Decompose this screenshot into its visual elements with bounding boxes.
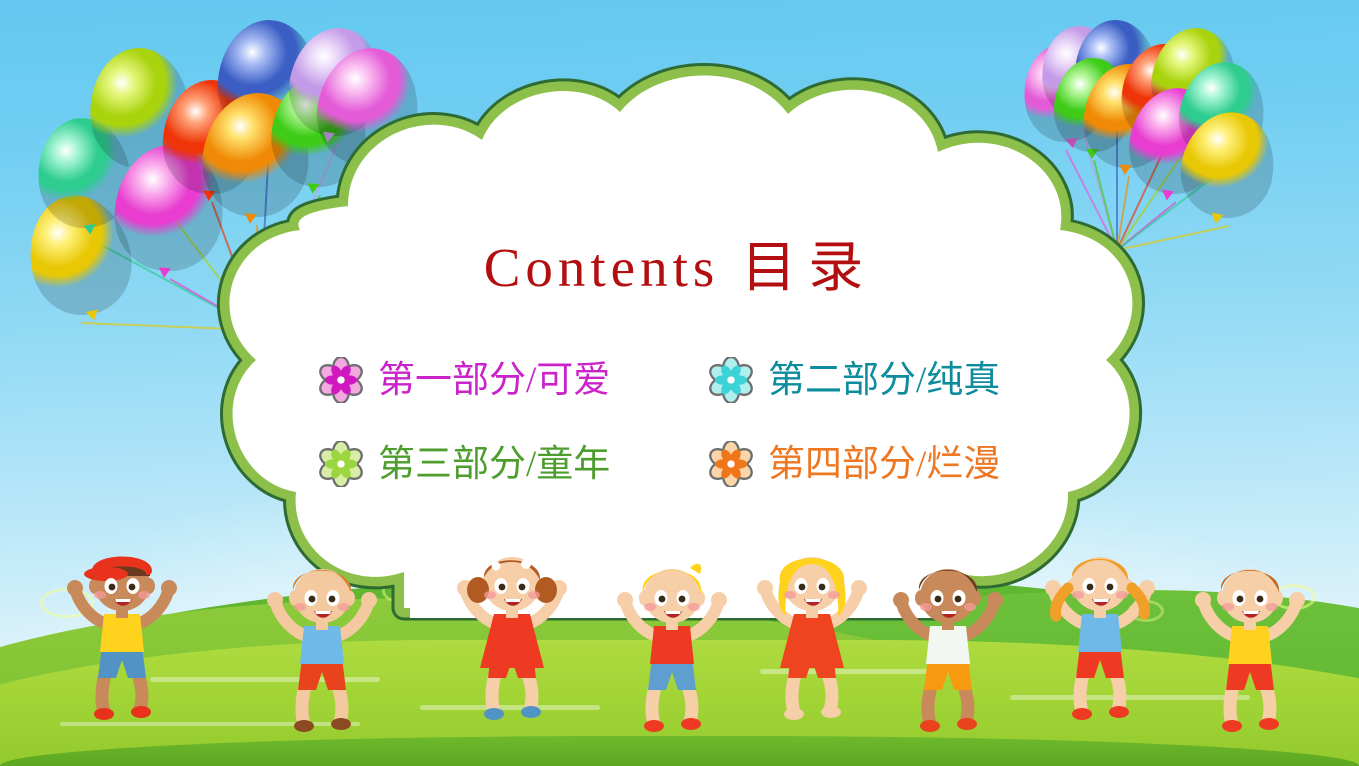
kid-girl-pigtails-dress xyxy=(452,542,572,732)
flower-icon xyxy=(708,441,754,487)
flower-icon xyxy=(318,357,364,403)
kid-boy-white-tank xyxy=(888,554,1008,744)
page-title-cn: 目录 xyxy=(741,237,875,298)
contents-menu-label: 第三部分/童年 xyxy=(378,446,610,483)
contents-menu-item-1[interactable]: 第一部分/可爱 xyxy=(318,338,708,422)
kid-boy-orange-hair xyxy=(262,554,382,744)
page-title: Contents目录 xyxy=(0,222,1359,302)
kid-boy-yellow-shirt xyxy=(1190,554,1310,744)
kid-boy-red-cap xyxy=(62,542,182,732)
contents-menu-item-4[interactable]: 第四部分/烂漫 xyxy=(708,422,1098,506)
contents-menu-label: 第一部分/可爱 xyxy=(378,362,610,399)
contents-menu: 第一部分/可爱第二部分/纯真第三部分/童年第四部分/烂漫 xyxy=(318,338,1098,506)
page-title-en: Contents xyxy=(484,237,720,298)
flower-icon xyxy=(708,357,754,403)
contents-menu-item-3[interactable]: 第三部分/童年 xyxy=(318,422,708,506)
contents-slide: Contents目录 第一部分/可爱第二部分/纯真第三部分/童年第四部分/烂漫 xyxy=(0,0,1359,766)
contents-menu-label: 第二部分/纯真 xyxy=(768,362,1000,399)
kid-boy-blond-shorts xyxy=(612,554,732,744)
flower-icon xyxy=(318,441,364,487)
kid-girl-red-braids xyxy=(1040,542,1160,732)
kid-girl-blond-dress xyxy=(752,542,872,732)
contents-menu-item-2[interactable]: 第二部分/纯真 xyxy=(708,338,1098,422)
contents-menu-label: 第四部分/烂漫 xyxy=(768,446,1000,483)
kids-row xyxy=(0,536,1359,766)
